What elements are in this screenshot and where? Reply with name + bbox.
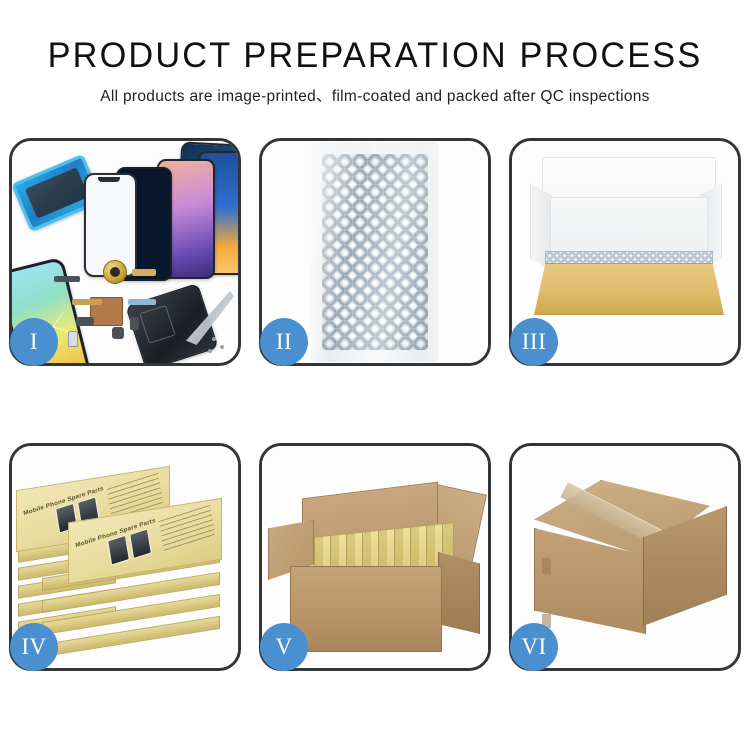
step-badge-2: II bbox=[260, 318, 308, 366]
steps-grid: I II III bbox=[0, 138, 750, 683]
speaker-component bbox=[103, 260, 127, 284]
small-connector-part bbox=[76, 317, 94, 326]
spec-text-lines bbox=[159, 505, 215, 552]
bubble-wrap-texture bbox=[322, 154, 428, 350]
flex-cable-part bbox=[128, 299, 156, 305]
phone-thumbnail bbox=[107, 535, 130, 566]
step-badge-3: III bbox=[510, 318, 558, 366]
step-panel-3: III bbox=[509, 138, 741, 366]
vibrator-part bbox=[112, 327, 124, 339]
phone-thumbnail bbox=[129, 528, 152, 559]
inner-box-base bbox=[534, 263, 724, 315]
screw-part bbox=[212, 337, 216, 341]
step-panel-6: VI bbox=[509, 443, 741, 671]
screw-part bbox=[208, 349, 212, 353]
screw-part bbox=[220, 345, 224, 349]
page-subtitle: All products are image-printed、film-coat… bbox=[0, 84, 750, 106]
step-badge-1: I bbox=[10, 318, 58, 366]
battery-connector-part bbox=[130, 317, 139, 330]
step-badge-4: IV bbox=[10, 623, 58, 671]
product-preparation-process-infographic: PRODUCT PREPARATION PROCESS All products… bbox=[0, 0, 750, 750]
bubble-wrap-pouch bbox=[311, 142, 439, 362]
flex-cable-part bbox=[132, 269, 156, 276]
page-title: PRODUCT PREPARATION PROCESS bbox=[8, 36, 743, 76]
flex-cable-part bbox=[72, 299, 102, 305]
step-panel-2: II bbox=[259, 138, 491, 366]
carton-side-panel bbox=[438, 552, 480, 634]
carton-seam-tab bbox=[542, 558, 551, 574]
step-panel-1: I bbox=[9, 138, 241, 366]
step-badge-5: V bbox=[260, 623, 308, 671]
earpiece-mesh-part bbox=[54, 276, 80, 282]
carton-front-panel bbox=[290, 566, 442, 652]
step-panel-4: Mobile Phone Spare Parts Mobile Phone Sp… bbox=[9, 443, 241, 671]
sim-tray-part bbox=[68, 331, 78, 347]
step-panel-5: V bbox=[259, 443, 491, 671]
step-badge-6: VI bbox=[510, 623, 558, 671]
